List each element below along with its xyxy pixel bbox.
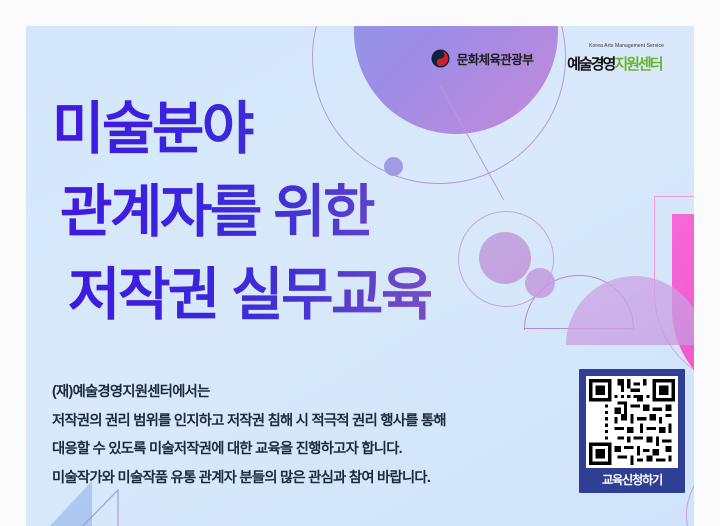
poster-description: (재)예술경영지원센터에서는 저작권의 권리 범위를 인지하고 저작권 침해 시… bbox=[52, 378, 572, 492]
logo-kams: Korea Arts Management Service 예술경영 지원센터 bbox=[567, 44, 664, 72]
logo-kams-label-primary: 예술경영 bbox=[567, 57, 614, 72]
dome-outline-purple-shape bbox=[524, 275, 634, 330]
logo-kams-tagline: Korea Arts Management Service bbox=[589, 44, 664, 49]
logo-kams-label-secondary: 지원센터 bbox=[614, 57, 661, 72]
dot-violet-shape bbox=[525, 268, 555, 298]
ring-outline-small-shape bbox=[458, 211, 554, 307]
description-line-3: 대응할 수 있도록 미술저작권에 대한 교육을 진행하고자 합니다. bbox=[52, 435, 572, 464]
title-line-3: 저작권 실무교육 bbox=[52, 254, 431, 337]
logo-group: 문화체육관광부 Korea Arts Management Service 예술… bbox=[431, 44, 664, 72]
poster-root: 문화체육관광부 Korea Arts Management Service 예술… bbox=[0, 0, 720, 526]
logo-mcst: 문화체육관광부 bbox=[431, 49, 533, 68]
taegeuk-icon bbox=[431, 49, 450, 68]
dome-baseline-shape bbox=[524, 328, 632, 329]
qr-code-icon[interactable] bbox=[586, 376, 678, 468]
ring-outline-bottom-shape bbox=[686, 456, 694, 526]
triangle-outline-shape bbox=[62, 488, 122, 526]
poster-title: 미술분야 관계자를 위한 저작권 실무교육 bbox=[52, 88, 431, 338]
title-line-2: 관계자를 위한 bbox=[52, 171, 431, 254]
logo-kams-wordmark: 예술경영 지원센터 bbox=[567, 57, 661, 72]
qr-apply-block[interactable]: 교육신청하기 bbox=[579, 369, 685, 493]
connector-line-shape bbox=[440, 86, 504, 200]
description-line-4: 미술작가와 미술작품 유통 관계자 분들의 많은 관심과 참여 바랍니다. bbox=[52, 464, 572, 493]
description-line-2: 저작권의 권리 범위를 인지하고 저작권 침해 시 적극적 권리 행사를 통해 bbox=[52, 407, 572, 436]
description-line-1: (재)예술경영지원센터에서는 bbox=[52, 378, 572, 407]
qr-apply-label[interactable]: 교육신청하기 bbox=[586, 473, 678, 488]
dome-outline-pink-shape bbox=[654, 196, 694, 388]
title-line-1: 미술분야 bbox=[52, 88, 431, 171]
logo-mcst-label: 문화체육관광부 bbox=[457, 49, 533, 68]
circle-medium-violet-shape bbox=[479, 232, 531, 284]
dome-filled-purple-shape bbox=[566, 276, 694, 345]
poster-panel: 문화체육관광부 Korea Arts Management Service 예술… bbox=[26, 26, 694, 526]
